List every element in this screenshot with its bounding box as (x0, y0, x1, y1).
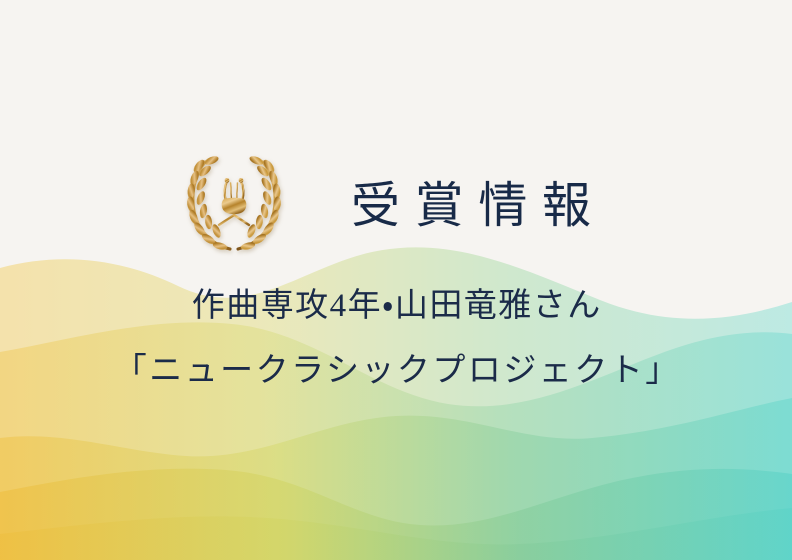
award-announcement-banner: 受賞情報 作曲専攻4年・山田竜雅さん 「ニュークラシックプロジェクト」 (0, 0, 792, 560)
headline-row: 受賞情報 (0, 152, 792, 256)
banner-content: 受賞情報 作曲専攻4年・山田竜雅さん 「ニュークラシックプロジェクト」 (0, 0, 792, 560)
laurel-leaves-left (187, 154, 228, 251)
award-project-title-line: 「ニュークラシックプロジェクト」 (0, 355, 792, 388)
laurel-leaves-right (240, 154, 281, 251)
lyre-icon (218, 179, 251, 233)
award-recipient-line: 作曲専攻4年・山田竜雅さん (0, 290, 792, 323)
laurel-wreath-award-icon (186, 153, 282, 255)
page-title: 受賞情報 (336, 181, 606, 230)
